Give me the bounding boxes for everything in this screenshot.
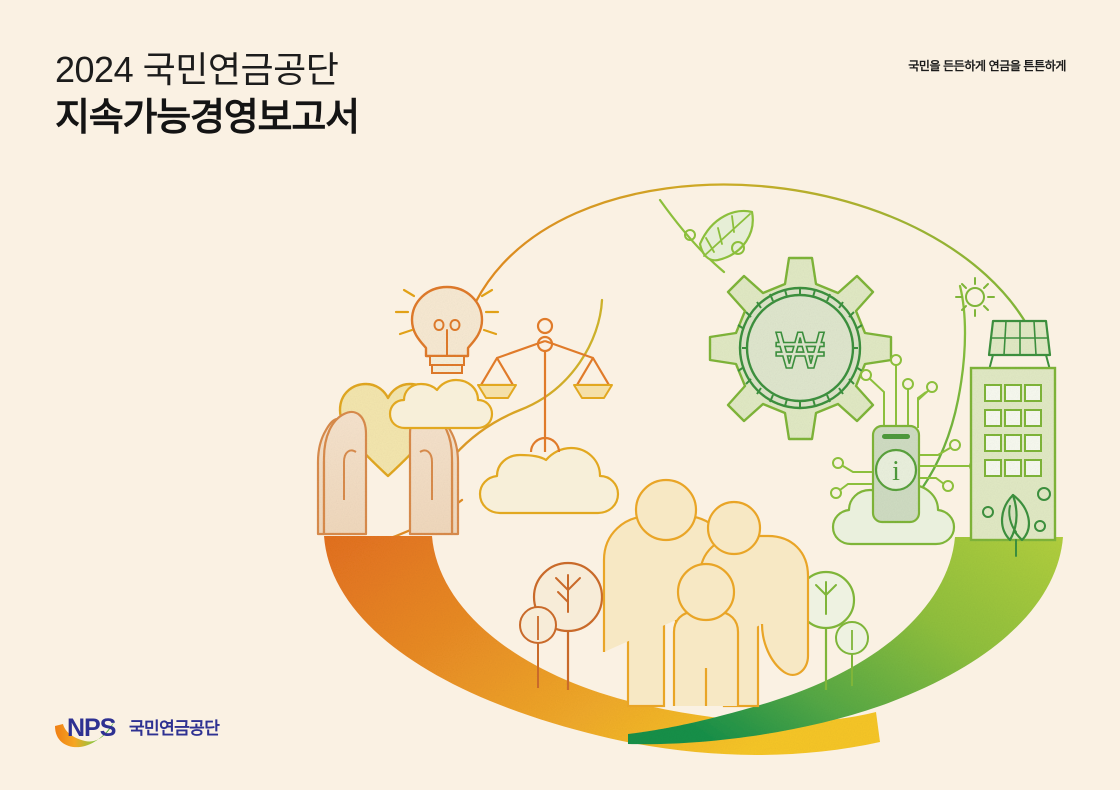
green-ribbon — [628, 537, 1063, 744]
solar-panel — [989, 321, 1050, 370]
page-title-line-2: 지속가능경영보고서 — [55, 99, 359, 137]
tree-orange-large — [534, 563, 602, 690]
building-body — [971, 368, 1055, 556]
scales-of-justice-on-cloud — [478, 319, 618, 513]
tree-green-large — [798, 572, 854, 690]
family-child — [674, 564, 738, 706]
tree-orange-small — [520, 607, 556, 688]
lightbulb-icon — [396, 287, 498, 373]
nps-logo[interactable]: NPS 국민연금공단 — [53, 708, 253, 754]
family-adult-right — [700, 502, 808, 706]
info-symbol: i — [892, 456, 900, 487]
cloud-under-bulb — [390, 380, 492, 428]
coin-ridges — [738, 288, 862, 408]
trees-green — [798, 572, 868, 690]
lightbulb-rays — [396, 290, 498, 334]
won-symbol: ₩ — [775, 322, 824, 380]
connector-arc-inner — [415, 300, 602, 532]
hand-right — [410, 412, 458, 534]
hand-left — [318, 412, 366, 534]
cover-title-block: 2024 국민연금공단 지속가능경영보고서 — [55, 52, 359, 137]
page-title-line-1: 2024 국민연금공단 — [55, 52, 359, 88]
lightbulb-on-cloud — [390, 287, 498, 428]
connector-arc-outer — [460, 185, 1030, 345]
building-leaf — [1002, 495, 1029, 556]
cloud-under-device — [833, 485, 954, 544]
cloud-under-scales — [480, 448, 618, 513]
gear-with-won-coin: ₩ — [710, 258, 891, 439]
connector-arc-right — [866, 286, 965, 540]
logo-mark-text: NPS — [67, 714, 116, 742]
sun-icon — [956, 278, 994, 316]
orange-ribbon — [324, 536, 880, 755]
connector-arc-lower-left — [356, 500, 462, 548]
building-windows — [985, 385, 1041, 476]
corporate-tagline: 국민을 든든하게 연금을 튼튼하게 — [908, 57, 1066, 74]
green-building-with-solar-panel — [971, 321, 1055, 556]
circuit-lines — [831, 355, 980, 498]
hands-holding-heart — [318, 384, 458, 534]
family-adult-left — [604, 480, 728, 706]
heart-shape — [340, 384, 436, 476]
smart-device-icon: i — [873, 426, 919, 522]
connector-arc-leaf-stem — [660, 200, 724, 272]
smart-device-on-cloud: i — [831, 355, 980, 544]
family-group — [604, 480, 808, 706]
leaf-sprout — [685, 211, 753, 260]
trees-orange — [520, 563, 602, 690]
scales-icon — [478, 319, 612, 452]
tree-green-small — [836, 622, 868, 686]
report-cover-page: ₩ — [0, 0, 1120, 790]
logo-name-text: 국민연금공단 — [129, 719, 220, 738]
